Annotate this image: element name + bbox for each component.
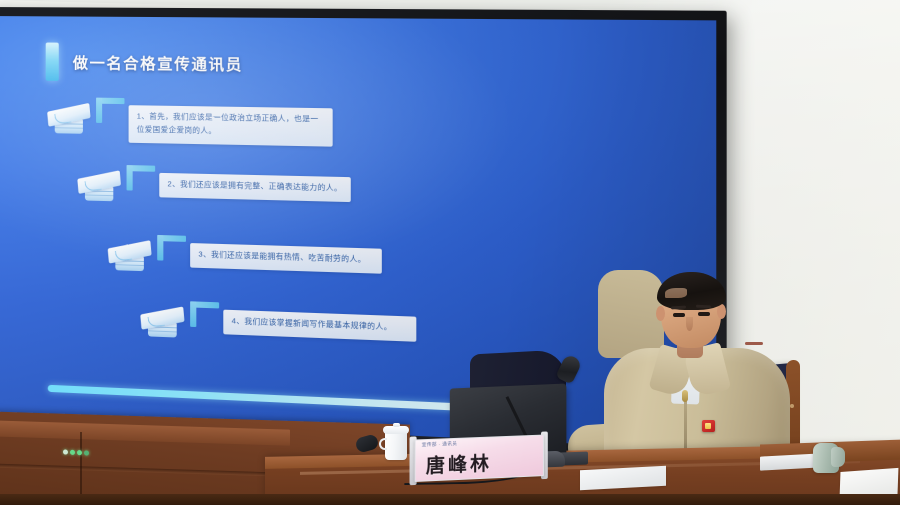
graduation-cap-icon — [78, 166, 123, 208]
connector-elbow-icon — [157, 235, 188, 264]
connector-elbow-icon — [127, 165, 158, 194]
name-plate: 宣传部 · 通讯员 唐峰林 — [415, 435, 544, 482]
slide-title: 做一名合格宣传通讯员 — [73, 51, 243, 74]
indicator-light-off — [63, 449, 68, 454]
indicator-light-on — [70, 450, 75, 455]
slide-bullet-3-text: 3、我们还应该是能拥有热情、吃苦耐劳的人。 — [190, 243, 382, 274]
slide-bullet-list: 1、首先，我们应该是一位政治立场正确人，也是一位爱国爱企爱岗的人。 2、我们还应… — [30, 95, 682, 375]
indicator-light-on — [77, 450, 82, 455]
party-emblem-pin-icon — [702, 420, 715, 432]
slide-footer-rule — [48, 385, 486, 412]
photo-scene: 做一名合格宣传通讯员 1、首先，我们应该是一位政治立场正确人，也是一位爱国爱企爱… — [0, 0, 900, 505]
mug-body — [385, 431, 407, 460]
title-accent-bar-icon — [46, 43, 59, 81]
mug-handle — [379, 438, 387, 450]
mug-lid — [383, 426, 409, 434]
slide-title-row: 做一名合格宣传通讯员 — [46, 43, 682, 89]
speaker-ear-right — [717, 304, 726, 319]
graduation-cap-icon — [108, 236, 153, 278]
speaker-eye-left — [673, 313, 685, 317]
slide-bullet-4: 4、我们应该掌握新闻写作最基本规律的人。 — [141, 300, 417, 354]
speaker-nose — [686, 317, 693, 331]
ceramic-mug — [383, 424, 409, 460]
indicator-light-on — [84, 450, 89, 455]
speaker-mouth — [745, 342, 763, 345]
speaker-hair — [657, 272, 726, 310]
connector-elbow-icon — [190, 301, 221, 331]
jacket-zipper-pull — [682, 390, 688, 402]
name-plate-name: 唐峰林 — [426, 449, 492, 479]
slide-bullet-1: 1、首先，我们应该是一位政治立场正确人，也是一位爱国爱企爱岗的人。 — [48, 97, 333, 147]
graduation-cap-icon — [48, 99, 92, 140]
mug-lid-knob — [393, 423, 400, 427]
graduation-cap-icon — [141, 302, 186, 344]
slide-bullet-3: 3、我们还应该是能拥有热情、吃苦耐劳的人。 — [108, 234, 382, 286]
slide-bullet-2: 2、我们还应该是拥有完整、正确表达能力的人。 — [78, 164, 351, 214]
connector-elbow-icon — [96, 98, 126, 127]
slide-bullet-4-text: 4、我们应该掌握新闻写作最基本规律的人。 — [223, 310, 416, 342]
slide-bullet-2-text: 2、我们还应该是拥有完整、正确表达能力的人。 — [159, 173, 351, 202]
slide-bullet-1-text: 1、首先，我们应该是一位政治立场正确人，也是一位爱国爱企爱岗的人。 — [129, 105, 333, 146]
thermos-cap — [831, 447, 845, 467]
speaker-eye-right — [698, 312, 710, 316]
speaker-ear-left — [656, 306, 665, 321]
name-plate-card: 宣传部 · 通讯员 唐峰林 — [415, 435, 544, 482]
name-plate-organization: 宣传部 · 通讯员 — [422, 441, 458, 448]
floor-shadow — [0, 494, 900, 505]
speaker-right-arm — [598, 270, 664, 358]
